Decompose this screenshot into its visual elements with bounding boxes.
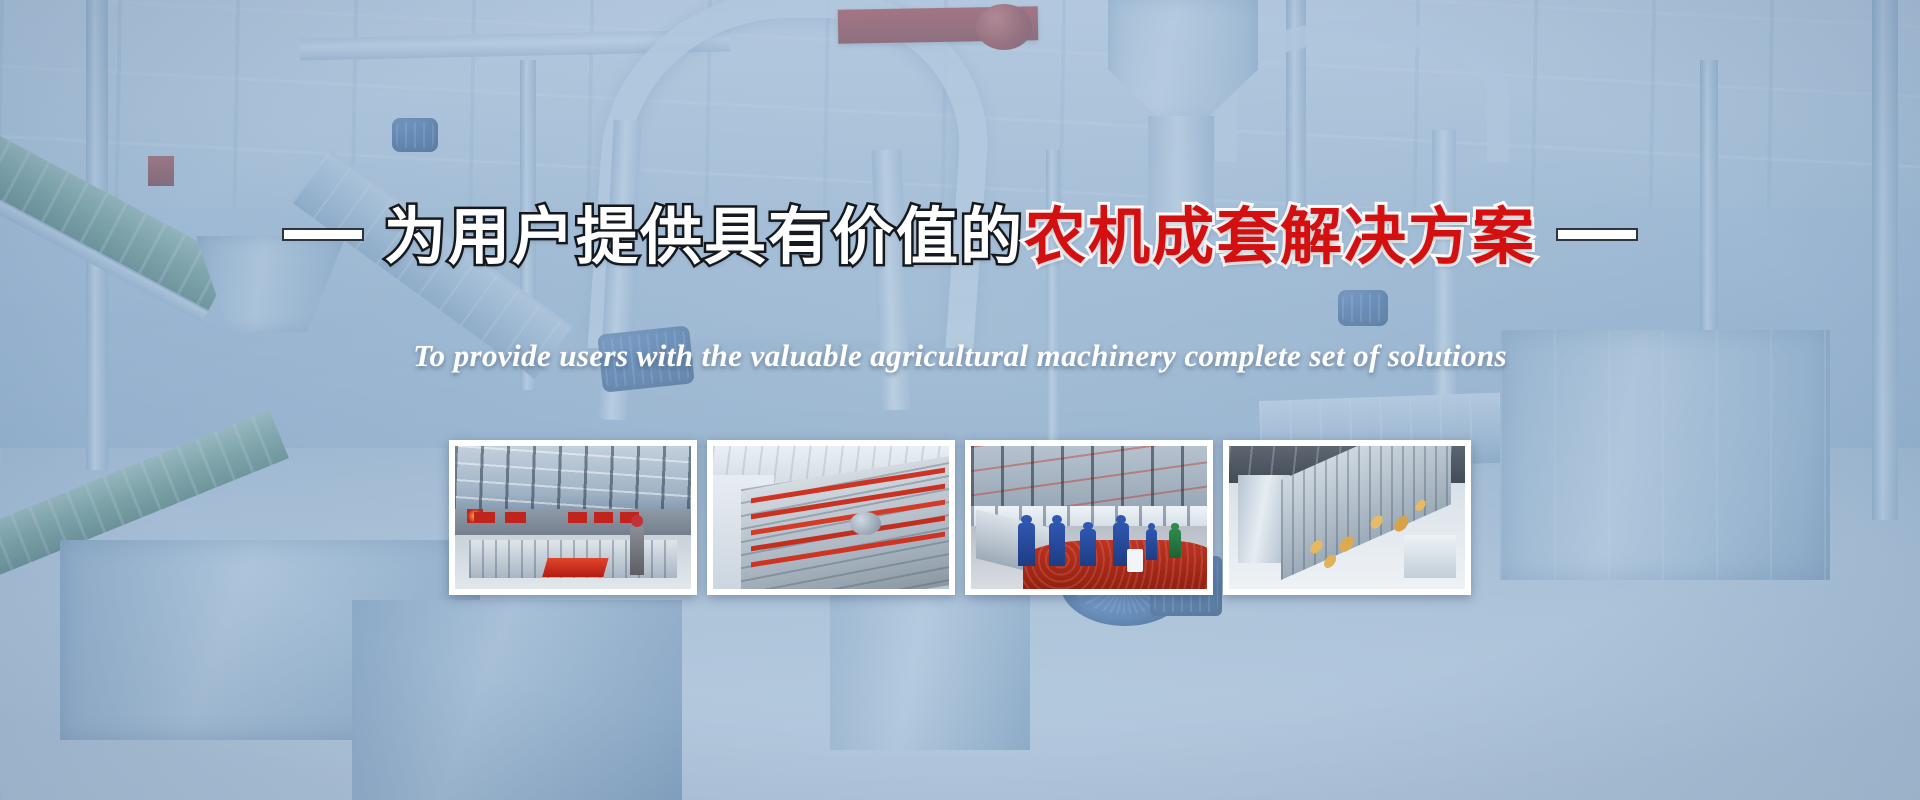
thumb-4-image [1229,446,1465,589]
thumb-1-image [455,446,691,589]
gallery-thumb-3[interactable] [965,440,1213,595]
headline: 为用户提供具有价值的农机成套解决方案 [0,204,1920,272]
thumb1-banner [568,512,587,523]
gallery-thumb-1[interactable] [449,440,697,595]
thumb3-white-bag [1127,549,1144,572]
thumb3-roof [971,446,1207,512]
subtitle: To provide users with the valuable agric… [0,338,1920,374]
thumb4-machine-box [1404,535,1456,578]
headline-text-white: 为用户提供具有价值的 [384,203,1024,272]
thumb3-worker [1018,523,1035,566]
gallery-thumb-4[interactable] [1223,440,1471,595]
thumb3-worker [1146,529,1158,560]
thumb3-worker [1049,523,1066,566]
thumb1-banner [505,512,526,523]
thumb-2-image [713,446,949,589]
banner-content: 为用户提供具有价值的农机成套解决方案 To provide users with… [0,0,1920,800]
thumbnail-gallery [0,440,1920,595]
headline-text-red: 农机成套解决方案 [1024,203,1536,272]
thumb1-worker [630,526,644,575]
thumb3-worker [1080,529,1097,566]
thumb1-banner [594,512,613,523]
headline-rule-right [1558,230,1636,239]
thumb-3-image [971,446,1207,589]
headline-rule-left [284,230,362,239]
gallery-thumb-2[interactable] [707,440,955,595]
hero-banner: 为用户提供具有价值的农机成套解决方案 To provide users with… [0,0,1920,800]
thumb2-motor [850,512,881,535]
thumb3-worker-green [1169,529,1181,558]
thumb1-banner [474,512,495,523]
thumb1-red-product [542,558,609,577]
thumb1-roof [455,446,691,515]
